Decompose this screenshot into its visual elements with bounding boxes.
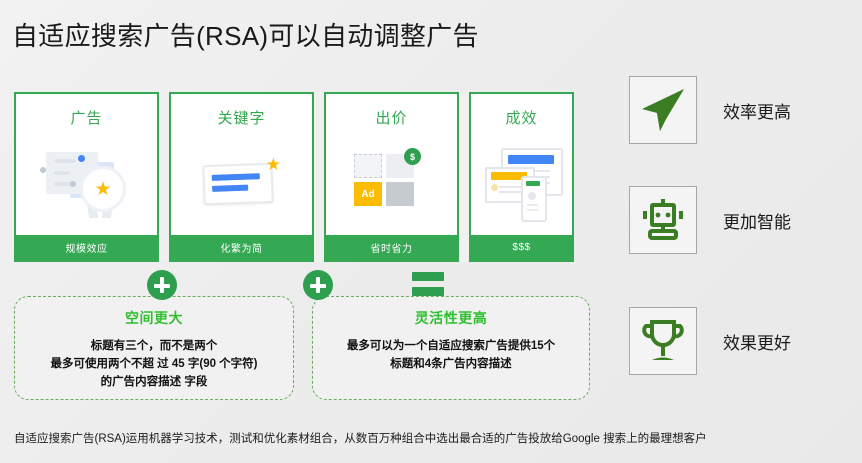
callout-more-flexibility: 灵活性更高 最多可以为一个自适应搜索广告提供15个 标题和4条广告内容描述 <box>312 296 590 400</box>
robot-icon <box>638 195 688 245</box>
page-title: 自适应搜索广告(RSA)可以自动调整广告 <box>12 16 479 53</box>
ad-tag-label: Ad <box>354 182 382 206</box>
panel-heading: 成效 <box>471 107 572 128</box>
callout-heading: 灵活性更高 <box>415 308 488 328</box>
callout-more-space: 空间更大 标题有三个，而不是两个 最多可使用两个不超 过 45 字(90 个字符… <box>14 296 294 400</box>
benefit-row-smarter: 更加智能 <box>629 186 791 254</box>
benefit-label: 更加智能 <box>723 208 791 233</box>
callout-line: 最多可使用两个不超 过 45 字(90 个字符) <box>50 356 257 374</box>
panel-footer-label: $$$ <box>471 235 572 260</box>
paper-plane-icon <box>640 87 686 133</box>
benefit-label: 效率更高 <box>723 98 791 123</box>
process-panel-ad[interactable]: 广告 ★ 规模效应 <box>14 92 159 262</box>
plus-operator-icon <box>303 270 333 300</box>
ad-document-star-icon: ★ <box>40 150 136 214</box>
callout-heading: 空间更大 <box>125 308 183 328</box>
benefit-icon-box <box>629 307 697 375</box>
plus-operator-icon <box>147 270 177 300</box>
panel-heading: 出价 <box>326 107 457 128</box>
benefit-icon-box <box>629 76 697 144</box>
slide-canvas: 自适应搜索广告(RSA)可以自动调整广告 广告 ★ 规模效应 <box>0 0 862 463</box>
benefit-icon-box <box>629 186 697 254</box>
panel-footer-label: 规模效应 <box>16 235 157 260</box>
panel-body: ★ <box>16 128 157 235</box>
money-badge: $ <box>404 148 421 165</box>
process-strip: 广告 ★ 规模效应 关键字 <box>14 92 574 262</box>
process-panel-performance[interactable]: 成效 $$$ <box>469 92 574 262</box>
callout-line: 标题有三个，而不是两个 <box>50 338 257 356</box>
trophy-icon <box>638 316 688 366</box>
equals-operator-icon <box>412 272 444 296</box>
callout-body: 最多可以为一个自适应搜索广告提供15个 标题和4条广告内容描述 <box>337 338 565 374</box>
benefit-label: 效果更好 <box>723 329 791 354</box>
callout-line: 的广告内容描述 字段 <box>50 374 257 392</box>
benefit-row-efficiency: 效率更高 <box>629 76 791 144</box>
benefit-row-results: 效果更好 <box>629 307 791 375</box>
callout-line: 标题和4条广告内容描述 <box>347 356 555 374</box>
callout-line: 最多可以为一个自适应搜索广告提供15个 <box>347 338 555 356</box>
panel-heading: 关键字 <box>171 107 312 128</box>
bid-grid-ad-icon: Ad $ <box>354 154 426 212</box>
callout-body: 标题有三个，而不是两个 最多可使用两个不超 过 45 字(90 个字符) 的广告… <box>40 338 267 391</box>
panel-heading: 广告 <box>16 107 157 128</box>
keyword-card-star-icon: ★ <box>203 158 283 206</box>
panel-body <box>471 128 572 235</box>
footer-note: 自适应搜索广告(RSA)运用机器学习技术，测试和优化素材组合，从数百万种组合中选… <box>14 430 707 446</box>
panel-footer-label: 省时省力 <box>326 235 457 260</box>
panel-body: ★ <box>171 128 312 235</box>
panel-footer-label: 化繁为简 <box>171 235 312 260</box>
performance-screens-icon <box>485 148 565 218</box>
process-panel-bid[interactable]: 出价 Ad $ 省时省力 <box>324 92 459 262</box>
process-panel-keyword[interactable]: 关键字 ★ 化繁为简 <box>169 92 314 262</box>
panel-body: Ad $ <box>326 128 457 235</box>
